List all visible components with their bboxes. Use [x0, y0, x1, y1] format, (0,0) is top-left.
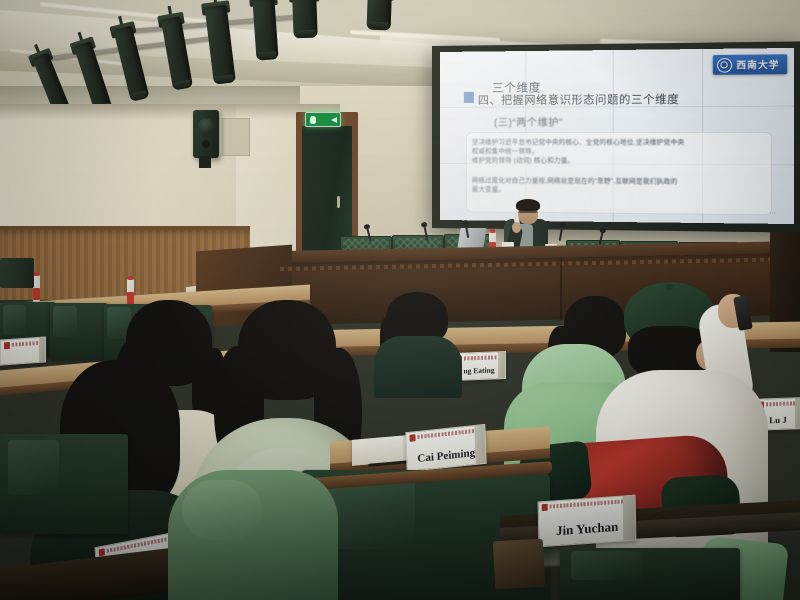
- door-handle[interactable]: [337, 196, 340, 208]
- slide-subheading-text: (三)“两个维护”: [494, 114, 563, 129]
- placard-name-text: Cai Peiming: [407, 446, 485, 466]
- wall-panel-box: [222, 118, 250, 156]
- placard-far-left: [0, 336, 46, 365]
- university-logo-text: 西南大学: [736, 58, 779, 72]
- wall-shadow-upper: [0, 104, 340, 120]
- empty-seat-2[interactable]: [50, 303, 108, 359]
- water-bottle-1: [33, 275, 40, 302]
- trash-bin: [0, 258, 34, 288]
- slide-ellipsis: …: [769, 208, 779, 215]
- slide-body-line-3: 维护党的领导 (动词) 核心和力量。: [472, 156, 574, 165]
- university-logo-badge: 西南大学: [713, 54, 787, 74]
- lecturer-glasses: [519, 210, 537, 213]
- water-bottle-2: [127, 279, 134, 307]
- slide-body-line-2: 权威和集中统一领导。: [472, 147, 539, 156]
- stage-light-6: [252, 0, 278, 57]
- lecturer-hand: [512, 222, 521, 233]
- torso: [374, 336, 462, 398]
- speaker-mount-bracket: [199, 156, 211, 168]
- podium-seam: [560, 258, 562, 320]
- foreground-seat-right[interactable]: [560, 548, 740, 600]
- slide-heading-text: 四、把握网络意识形态问题的三个维度: [478, 91, 679, 108]
- exit-sign-icon: [305, 112, 341, 127]
- stage-light-8: [367, 0, 392, 26]
- wall-speaker: [193, 110, 219, 158]
- foreground-seat-left[interactable]: [0, 434, 128, 534]
- projection-screen[interactable]: 西南大学 三个维度 四、把握网络意识形态问题的三个维度 (三)“两个维护” 坚决…: [440, 48, 794, 224]
- university-seal-icon: [717, 57, 732, 72]
- slide-body2-line-2: 最大变量。: [472, 185, 505, 194]
- placard-cai-peiming: Cai Peiming: [405, 424, 486, 472]
- cap-button: [666, 284, 673, 290]
- lecture-hall-photo: 西南大学 三个维度 四、把握网络意识形态问题的三个维度 (三)“两个维护” 坚决…: [0, 0, 800, 600]
- laptop-open[interactable]: [457, 228, 486, 248]
- placard-name-text: Jin Yuchan: [539, 517, 635, 540]
- stage-light-7: [292, 0, 318, 34]
- shoulder-highlight: [182, 480, 262, 540]
- wood-block-bottom: [493, 539, 545, 590]
- slide-body-line-1: 坚决维护习近平总书记党中央的核心、全党的核心地位,坚决维护党中央: [472, 138, 685, 147]
- slide-bullet-marker: [464, 92, 474, 103]
